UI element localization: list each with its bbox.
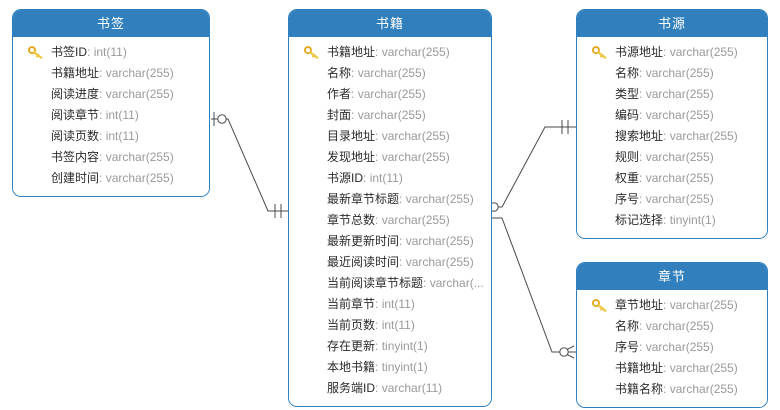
field-type: : tinyint(1) [663, 213, 716, 227]
field-type: : varchar(255) [351, 87, 426, 101]
field-name: 创建时间 [51, 171, 99, 185]
field-type: : varchar(255) [399, 192, 474, 206]
field-type-value: varchar(255) [646, 192, 714, 206]
entity-table-chapter[interactable]: 章节 章节地址: varchar(255) 名称: varchar(255) 序… [576, 262, 768, 408]
field-type-value: varchar(255) [670, 361, 738, 375]
connector-book-source[interactable] [484, 120, 576, 213]
field-row: 书籍地址: varchar(255) [577, 358, 767, 379]
field-type: : varchar(255) [351, 66, 426, 80]
field-type: : varchar(255) [663, 361, 738, 375]
field-type-value: varchar(255) [358, 108, 426, 122]
field-name: 书籍地址 [615, 361, 663, 375]
field-name: 阅读进度 [51, 87, 99, 101]
field-name: 权重 [615, 171, 639, 185]
field-row: 封面: varchar(255) [289, 105, 491, 126]
field-type-value: int(11) [106, 129, 139, 143]
field-name: 阅读页数 [51, 129, 99, 143]
primary-key-icon [592, 46, 607, 59]
entity-fields-chapter: 章节地址: varchar(255) 名称: varchar(255) 序号: … [577, 290, 767, 407]
field-type: : varchar(255) [375, 150, 450, 164]
field-type-value: varchar(255) [358, 66, 426, 80]
field-row: 本地书籍: tinyint(1) [289, 357, 491, 378]
field-row: 名称: varchar(255) [577, 316, 767, 337]
field-name: 编码 [615, 108, 639, 122]
field-type-value: varchar(255) [382, 213, 450, 227]
field-name: 最新章节标题 [327, 192, 399, 206]
entity-title-bookmark: 书签 [13, 10, 209, 37]
field-row: 发现地址: varchar(255) [289, 147, 491, 168]
field-type: : varchar(255) [639, 192, 714, 206]
entity-table-book[interactable]: 书籍 书籍地址: varchar(255) 名称: varchar(255) 作… [288, 9, 492, 407]
field-row: 书源ID: int(11) [289, 168, 491, 189]
field-type: : int(11) [375, 297, 415, 311]
field-name: 书籍地址 [51, 66, 99, 80]
field-row: 规则: varchar(255) [577, 147, 767, 168]
field-row: 序号: varchar(255) [577, 337, 767, 358]
field-type: : varchar(255) [639, 171, 714, 185]
field-type-value: varchar(255) [358, 87, 426, 101]
primary-key-icon [28, 46, 43, 59]
field-row: 章节地址: varchar(255) [577, 295, 767, 316]
connector-bookmark-book[interactable] [211, 112, 288, 218]
field-type-value: int(11) [370, 171, 403, 185]
field-type-value: varchar(255) [646, 319, 714, 333]
field-type: : tinyint(1) [375, 339, 428, 353]
field-type: : varchar(255) [639, 66, 714, 80]
entity-table-bookmark[interactable]: 书签 书签ID: int(11) 书籍地址: varchar(255) 阅读进度… [12, 9, 210, 197]
field-type: : varchar(255) [399, 255, 474, 269]
field-name: 序号 [615, 340, 639, 354]
field-type-value: varchar(... [430, 276, 484, 290]
field-type-value: varchar(255) [106, 87, 174, 101]
field-type: : varchar(255) [663, 382, 738, 396]
field-name: 搜索地址 [615, 129, 663, 143]
field-type: : varchar(255) [99, 150, 174, 164]
field-name: 发现地址 [327, 150, 375, 164]
entity-fields-source: 书源地址: varchar(255) 名称: varchar(255) 类型: … [577, 37, 767, 238]
field-row: 书籍地址: varchar(255) [289, 42, 491, 63]
field-name: 最新更新时间 [327, 234, 399, 248]
field-type: : int(11) [99, 108, 139, 122]
field-type: : varchar(255) [99, 66, 174, 80]
field-type: : tinyint(1) [375, 360, 428, 374]
field-row: 权重: varchar(255) [577, 168, 767, 189]
field-row: 阅读进度: varchar(255) [13, 84, 209, 105]
er-diagram-canvas: 书签 书签ID: int(11) 书籍地址: varchar(255) 阅读进度… [0, 0, 780, 410]
field-row: 作者: varchar(255) [289, 84, 491, 105]
entity-fields-book: 书籍地址: varchar(255) 名称: varchar(255) 作者: … [289, 37, 491, 406]
connector-book-chapter[interactable] [483, 211, 576, 358]
primary-key-icon [592, 299, 607, 312]
field-type-value: int(11) [94, 45, 127, 59]
field-row: 编码: varchar(255) [577, 105, 767, 126]
field-type-value: varchar(255) [406, 192, 474, 206]
field-row: 最新更新时间: varchar(255) [289, 231, 491, 252]
field-type-value: varchar(11) [382, 381, 442, 395]
field-row: 类型: varchar(255) [577, 84, 767, 105]
field-row: 书签ID: int(11) [13, 42, 209, 63]
field-name: 当前阅读章节标题 [327, 276, 423, 290]
field-type-value: tinyint(1) [670, 213, 716, 227]
field-name: 书签内容 [51, 150, 99, 164]
field-row: 存在更新: tinyint(1) [289, 336, 491, 357]
field-type-value: varchar(255) [382, 45, 450, 59]
field-name: 书签ID [51, 45, 87, 59]
field-type-value: varchar(255) [646, 150, 714, 164]
field-name: 名称 [327, 66, 351, 80]
field-name: 书源ID [327, 171, 363, 185]
field-name: 章节地址 [615, 298, 663, 312]
field-type: : int(11) [363, 171, 403, 185]
entity-table-source[interactable]: 书源 书源地址: varchar(255) 名称: varchar(255) 类… [576, 9, 768, 239]
field-row: 标记选择: tinyint(1) [577, 210, 767, 231]
field-type: : int(11) [87, 45, 127, 59]
field-type: : varchar(255) [399, 234, 474, 248]
field-type-value: varchar(255) [646, 108, 714, 122]
primary-key-icon [304, 46, 319, 59]
field-type-value: varchar(255) [670, 298, 738, 312]
field-type: : varchar(255) [375, 129, 450, 143]
field-row: 名称: varchar(255) [577, 63, 767, 84]
field-row: 服务端ID: varchar(11) [289, 378, 491, 399]
field-name: 序号 [615, 192, 639, 206]
field-type: : varchar(255) [639, 150, 714, 164]
field-type: : varchar(255) [99, 87, 174, 101]
field-type-value: int(11) [106, 108, 139, 122]
field-type: : varchar(255) [639, 108, 714, 122]
field-row: 搜索地址: varchar(255) [577, 126, 767, 147]
field-type: : varchar(255) [351, 108, 426, 122]
field-type-value: varchar(255) [646, 171, 714, 185]
field-row: 书签内容: varchar(255) [13, 147, 209, 168]
field-type: : varchar(255) [639, 340, 714, 354]
field-type-value: varchar(255) [382, 129, 450, 143]
field-name: 书籍地址 [327, 45, 375, 59]
field-type: : varchar(255) [99, 171, 174, 185]
field-row: 当前页数: int(11) [289, 315, 491, 336]
field-type: : varchar(255) [663, 45, 738, 59]
field-row: 书籍名称: varchar(255) [577, 379, 767, 400]
field-type-value: varchar(255) [382, 150, 450, 164]
field-row: 当前阅读章节标题: varchar(... [289, 273, 491, 294]
field-type: : varchar(11) [375, 381, 442, 395]
field-name: 名称 [615, 66, 639, 80]
field-type: : varchar(255) [639, 319, 714, 333]
field-type-value: varchar(255) [406, 255, 474, 269]
field-type: : varchar(... [423, 276, 484, 290]
field-type-value: varchar(255) [406, 234, 474, 248]
field-name: 名称 [615, 319, 639, 333]
field-type: : int(11) [375, 318, 415, 332]
field-name: 阅读章节 [51, 108, 99, 122]
field-row: 书源地址: varchar(255) [577, 42, 767, 63]
field-type: : varchar(255) [663, 298, 738, 312]
field-type-value: varchar(255) [670, 382, 738, 396]
field-row: 阅读页数: int(11) [13, 126, 209, 147]
field-name: 当前页数 [327, 318, 375, 332]
field-type-value: int(11) [382, 318, 415, 332]
field-type-value: varchar(255) [106, 66, 174, 80]
field-name: 书籍名称 [615, 382, 663, 396]
entity-title-book: 书籍 [289, 10, 491, 37]
field-name: 书源地址 [615, 45, 663, 59]
field-type: : varchar(255) [663, 129, 738, 143]
field-row: 名称: varchar(255) [289, 63, 491, 84]
field-name: 类型 [615, 87, 639, 101]
entity-fields-bookmark: 书签ID: int(11) 书籍地址: varchar(255) 阅读进度: v… [13, 37, 209, 196]
field-type-value: tinyint(1) [382, 360, 428, 374]
field-type-value: varchar(255) [106, 150, 174, 164]
field-type: : varchar(255) [375, 213, 450, 227]
field-row: 章节总数: varchar(255) [289, 210, 491, 231]
field-row: 阅读章节: int(11) [13, 105, 209, 126]
field-name: 最近阅读时间 [327, 255, 399, 269]
field-type-value: int(11) [382, 297, 415, 311]
field-row: 序号: varchar(255) [577, 189, 767, 210]
field-type: : int(11) [99, 129, 139, 143]
field-name: 当前章节 [327, 297, 375, 311]
field-name: 本地书籍 [327, 360, 375, 374]
field-name: 封面 [327, 108, 351, 122]
entity-title-chapter: 章节 [577, 263, 767, 290]
field-type-value: varchar(255) [670, 45, 738, 59]
entity-title-source: 书源 [577, 10, 767, 37]
field-name: 规则 [615, 150, 639, 164]
field-type: : varchar(255) [639, 87, 714, 101]
field-name: 服务端ID [327, 381, 375, 395]
field-type-value: varchar(255) [670, 129, 738, 143]
field-type: : varchar(255) [375, 45, 450, 59]
field-type-value: varchar(255) [646, 87, 714, 101]
field-type-value: varchar(255) [646, 340, 714, 354]
field-name: 章节总数 [327, 213, 375, 227]
field-row: 书籍地址: varchar(255) [13, 63, 209, 84]
field-row: 最新章节标题: varchar(255) [289, 189, 491, 210]
field-name: 作者 [327, 87, 351, 101]
field-row: 创建时间: varchar(255) [13, 168, 209, 189]
field-row: 当前章节: int(11) [289, 294, 491, 315]
field-name: 目录地址 [327, 129, 375, 143]
field-type-value: tinyint(1) [382, 339, 428, 353]
field-type-value: varchar(255) [646, 66, 714, 80]
field-name: 标记选择 [615, 213, 663, 227]
field-row: 最近阅读时间: varchar(255) [289, 252, 491, 273]
field-row: 目录地址: varchar(255) [289, 126, 491, 147]
field-name: 存在更新 [327, 339, 375, 353]
field-type-value: varchar(255) [106, 171, 174, 185]
